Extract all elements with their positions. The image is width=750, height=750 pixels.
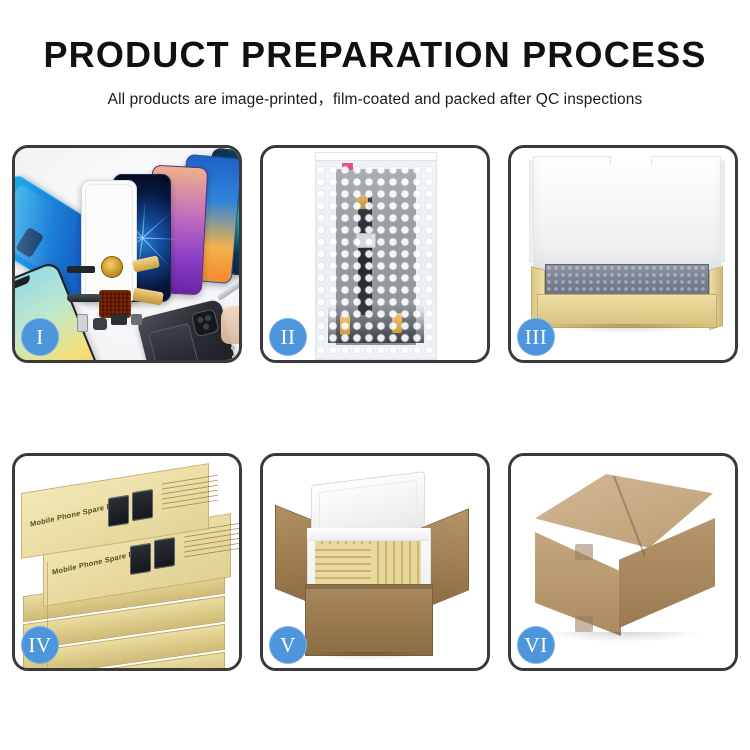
box-art-screen-4 bbox=[154, 537, 175, 569]
foam-box-rim bbox=[307, 528, 429, 541]
box-art-screen-2 bbox=[132, 489, 153, 521]
carton-front-panel bbox=[305, 584, 433, 656]
box-drop-shadow bbox=[539, 324, 713, 333]
carton-drop-shadow bbox=[307, 652, 429, 660]
vibration-coil-part bbox=[101, 256, 123, 278]
page-title: PRODUCT PREPARATION PROCESS bbox=[0, 0, 750, 75]
process-step-panel-3[interactable]: III bbox=[508, 145, 738, 363]
header: PRODUCT PREPARATION PROCESS All products… bbox=[0, 0, 750, 109]
process-step-panel-6[interactable]: VI bbox=[508, 453, 738, 671]
camera-module bbox=[191, 308, 220, 337]
front-glass-panel bbox=[81, 180, 137, 302]
box-art-screen-3 bbox=[130, 543, 151, 575]
hand bbox=[221, 306, 239, 344]
step-badge-4: IV bbox=[21, 626, 59, 664]
box-lid-back bbox=[533, 156, 721, 270]
process-step-panel-5[interactable]: V bbox=[260, 453, 490, 671]
step-badge-5: V bbox=[269, 626, 307, 664]
bag-seal-seam bbox=[316, 153, 436, 161]
page-subtitle: All products are image-printed，film-coat… bbox=[0, 75, 750, 109]
ribbon-cable-part bbox=[67, 294, 101, 302]
side-button-part bbox=[77, 314, 88, 332]
carton-tape-mark-bottom bbox=[575, 616, 593, 632]
chip-part-2 bbox=[131, 314, 142, 325]
chip-part-1 bbox=[111, 314, 127, 325]
screws-part bbox=[229, 344, 239, 360]
step-badge-2: II bbox=[269, 318, 307, 356]
kraft-boxes-row-2 bbox=[315, 544, 371, 586]
step-badge-6: VI bbox=[517, 626, 555, 664]
kraft-box-front bbox=[537, 294, 717, 328]
box-spec-lines-1 bbox=[162, 475, 218, 510]
bubble-wrap-bag bbox=[315, 152, 437, 360]
carton-tape-mark-top bbox=[575, 544, 593, 560]
sealed-carton-shadow bbox=[543, 632, 703, 642]
product-preparation-infographic: PRODUCT PREPARATION PROCESS All products… bbox=[0, 0, 750, 750]
step-badge-1: I bbox=[21, 318, 59, 356]
process-step-panel-1[interactable]: I bbox=[12, 145, 242, 363]
lid-notch bbox=[610, 156, 652, 165]
process-step-panel-2[interactable]: II bbox=[260, 145, 490, 363]
small-bracket-part bbox=[93, 318, 107, 330]
speaker-part bbox=[67, 266, 95, 273]
process-step-grid: I II bbox=[12, 145, 738, 683]
bubble-texture bbox=[316, 153, 436, 359]
battery-part bbox=[148, 323, 199, 360]
process-step-panel-4[interactable]: Mobile Phone Spare Parts Mobile Phone Sp… bbox=[12, 453, 242, 671]
box-art-screen-1 bbox=[108, 495, 129, 527]
step-badge-3: III bbox=[517, 318, 555, 356]
